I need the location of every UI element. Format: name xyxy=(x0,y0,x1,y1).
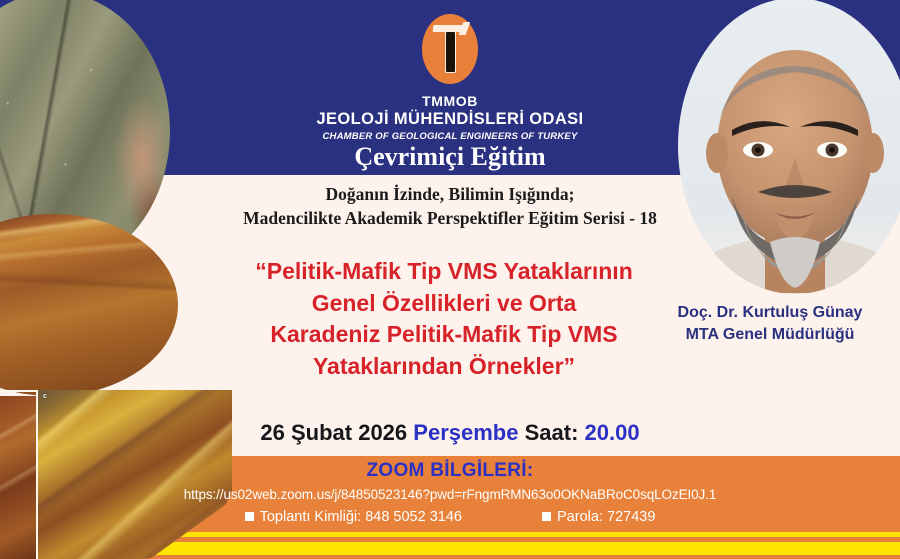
talk-title-line4: Yataklarından Örnekler” xyxy=(208,351,680,383)
speaker-affiliation: MTA Genel Müdürlüğü xyxy=(640,324,900,346)
meeting-id-value: 848 5052 3146 xyxy=(365,509,462,525)
photo-panel-tag: c xyxy=(43,393,47,400)
talk-title-line2: Genel Özellikleri ve Orta xyxy=(208,288,680,320)
series-subtitle-line2: Madencilikte Akademik Perspektifler Eğit… xyxy=(150,207,750,231)
hammer-handle-shape xyxy=(445,31,456,73)
gossan-outcrop-photo xyxy=(0,214,178,396)
schedule-line: 26 Şubat 2026 Perşembe Saat: 20.00 xyxy=(0,420,900,446)
series-subtitle: Doğanın İzinde, Bilimin Işığında; Madenc… xyxy=(150,183,750,230)
talk-title: “Pelitik-Mafik Tip VMS Yataklarının Gene… xyxy=(208,256,680,383)
schedule-time-label: Saat: xyxy=(525,420,579,445)
logo-line-chamber-en: CHAMBER OF GEOLOGICAL ENGINEERS OF TURKE… xyxy=(0,131,900,142)
series-subtitle-line1: Doğanın İzinde, Bilimin Işığında; xyxy=(150,183,750,207)
geology-hammer-icon xyxy=(422,14,478,84)
speaker-info: Doç. Dr. Kurtuluş Günay MTA Genel Müdürl… xyxy=(640,302,900,345)
passcode-value: 727439 xyxy=(607,509,655,525)
schedule-day: Perşembe xyxy=(413,420,518,445)
zoom-join-url[interactable]: https://us02web.zoom.us/j/84850523146?pw… xyxy=(0,487,900,502)
talk-title-line3: Karadeniz Pelitik-Mafik Tip VMS xyxy=(208,319,680,351)
logo-line-chamber-tr: JEOLOJİ MÜHENDİSLERİ ODASI xyxy=(0,110,900,129)
schedule-date: 26 Şubat 2026 xyxy=(260,420,407,445)
schedule-time: 20.00 xyxy=(585,420,640,445)
bullet-square-icon xyxy=(245,512,254,521)
zoom-info-heading: ZOOM BİLGİLERİ: xyxy=(0,460,900,482)
zoom-credentials-row: Toplantı Kimliği: 848 5052 3146 Parola: … xyxy=(0,509,900,525)
poster: c xyxy=(0,0,900,559)
speaker-name: Doç. Dr. Kurtuluş Günay xyxy=(640,302,900,324)
meeting-id-label: Toplantı Kimliği: xyxy=(260,509,362,525)
passcode-label: Parola: xyxy=(557,509,603,525)
talk-title-line1: “Pelitik-Mafik Tip VMS Yataklarının xyxy=(208,256,680,288)
online-training-heading: Çevrimiçi Eğitim xyxy=(0,142,900,172)
logo-line-tmmob: TMMOB xyxy=(0,93,900,109)
bullet-square-icon-2 xyxy=(542,512,551,521)
organization-logo: TMMOB JEOLOJİ MÜHENDİSLERİ ODASI CHAMBER… xyxy=(0,14,900,142)
